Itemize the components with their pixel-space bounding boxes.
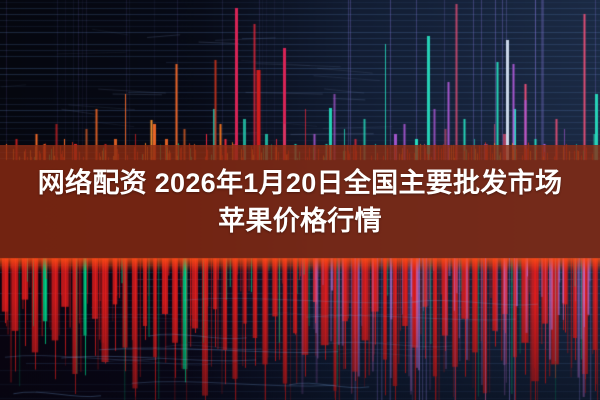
screenshot-root: 网络配资 2026年1月20日全国主要批发市场苹果价格行情 [0,0,600,400]
title-banner: 网络配资 2026年1月20日全国主要批发市场苹果价格行情 [0,145,600,258]
page-title: 网络配资 2026年1月20日全国主要批发市场苹果价格行情 [30,164,570,240]
